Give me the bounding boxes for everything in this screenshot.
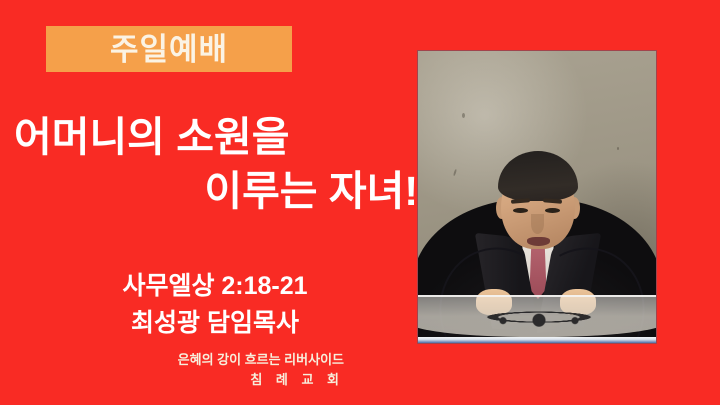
wall-speck [617,147,619,150]
sermon-details: 사무엘상 2:18-21 최성광 담임목사 [0,268,430,342]
photo-bottom-strip [418,337,656,343]
scripture-reference: 사무엘상 2:18-21 [0,268,430,305]
pulpit-ornament [464,307,614,329]
speaker-eye-right [545,208,560,213]
church-name-line-1: 은혜의 강이 흐르는 리버사이드 [0,350,344,370]
sermon-title-slide: 주일예배 어머니의 소원을 이루는 자녀! 사무엘상 2:18-21 최성광 담… [0,0,720,405]
speaker-eye-left [513,208,528,213]
church-name: 은혜의 강이 흐르는 리버사이드 침 례 교 회 [0,350,352,390]
speaker-mouth [527,237,550,246]
sermon-title-line-1: 어머니의 소원을 [0,110,424,164]
speaker-nose [531,214,544,234]
sermon-title: 어머니의 소원을 이루는 자녀! [0,110,424,218]
service-type-label: 주일예배 [110,34,228,65]
speaker-photo [418,51,656,343]
speaker-name: 최성광 담임목사 [0,305,430,342]
wall-speck [462,113,465,118]
sermon-title-line-2: 이루는 자녀! [0,164,424,218]
church-name-line-2: 침 례 교 회 [0,370,344,390]
service-type-badge: 주일예배 [46,26,292,72]
